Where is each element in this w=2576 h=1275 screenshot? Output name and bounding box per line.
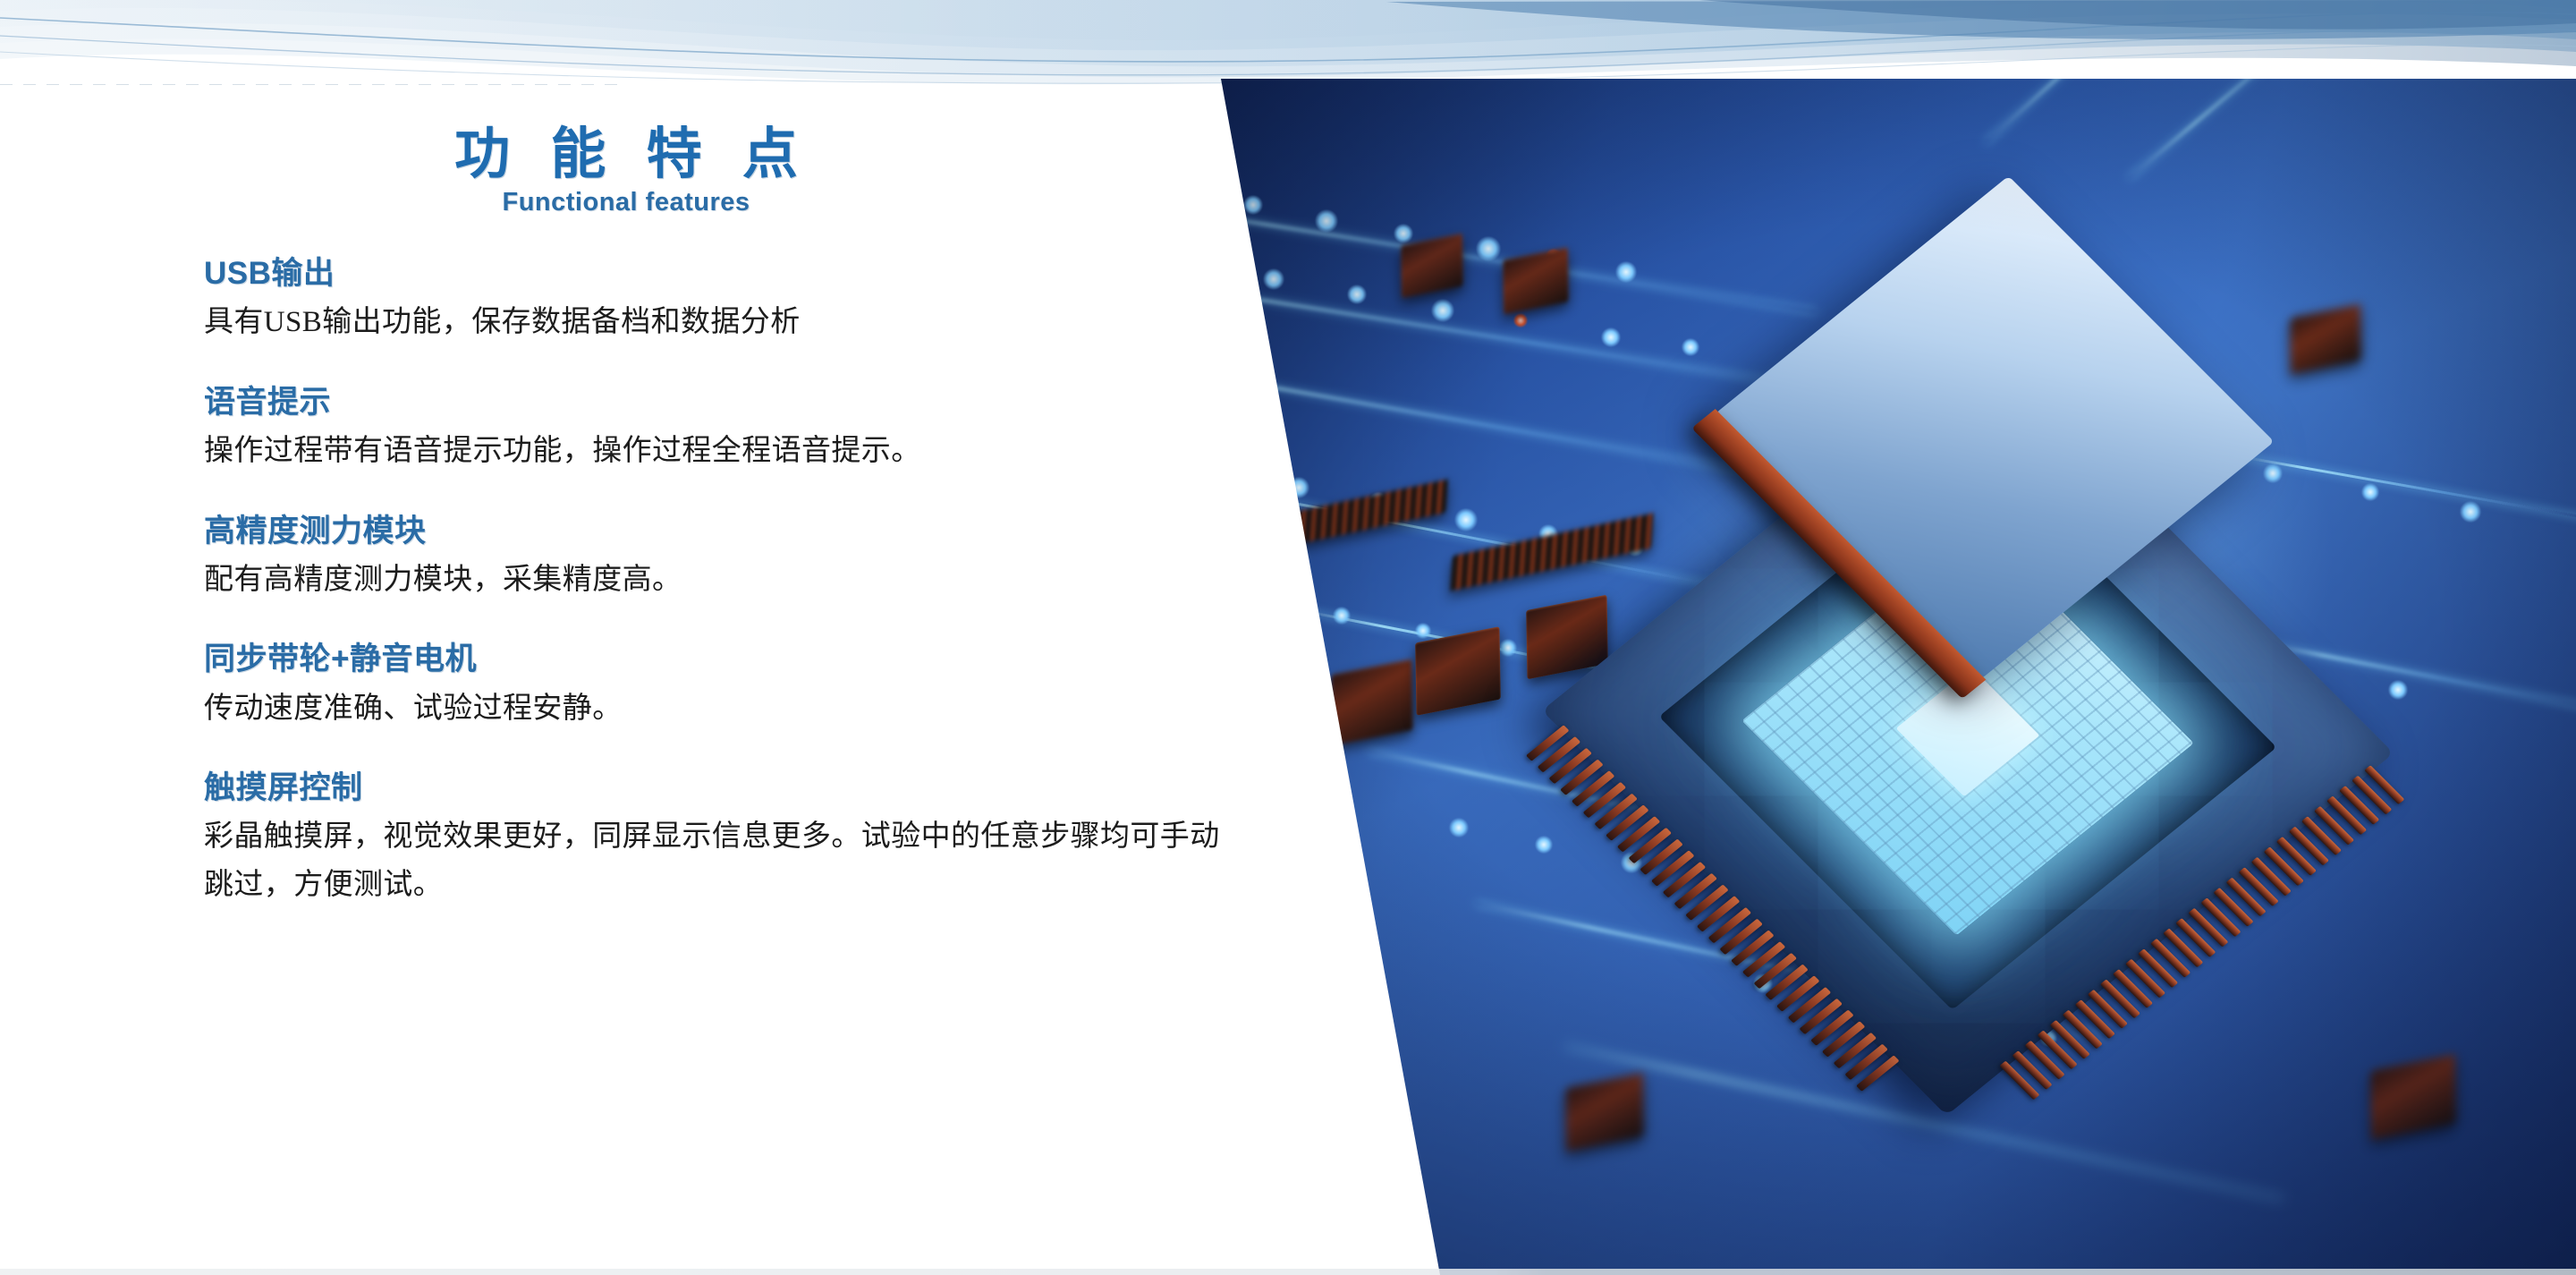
feature-title: 高精度测力模块 bbox=[204, 513, 1241, 549]
circuit-board-microchip-photo bbox=[1181, 70, 2576, 1275]
dotted-rule-decoration bbox=[0, 84, 626, 86]
bottom-edge-strip bbox=[0, 1269, 2576, 1275]
feature-item: 高精度测力模块 配有高精度测力模块，采集精度高。 bbox=[204, 513, 1241, 605]
feature-item: 同步带轮+静音电机 传动速度准确、试验过程安静。 bbox=[204, 641, 1241, 733]
feature-item: USB输出 具有USB输出功能，保存数据备档和数据分析 bbox=[204, 255, 1241, 347]
content-column: 功 能 特 点 Functional features USB输出 具有USB输… bbox=[0, 89, 1252, 1275]
feature-description: 传动速度准确、试验过程安静。 bbox=[204, 685, 1241, 733]
feature-description: 操作过程带有语音提示功能，操作过程全程语音提示。 bbox=[204, 428, 1241, 475]
wave-ribbon-decoration bbox=[0, 0, 2576, 89]
photo-background bbox=[1181, 70, 2576, 1275]
section-heading: 功 能 特 点 Functional features bbox=[0, 125, 1252, 217]
feature-item: 触摸屏控制 彩晶触摸屏，视觉效果更好，同屏显示信息更多。试验中的任意步骤均可手动… bbox=[204, 769, 1241, 909]
feature-description: 具有USB输出功能，保存数据备档和数据分析 bbox=[204, 299, 1241, 346]
slide-root: 功 能 特 点 Functional features USB输出 具有USB输… bbox=[0, 0, 2576, 1275]
wave-ribbon-icon bbox=[0, 0, 2576, 89]
page-title: 功 能 特 点 bbox=[0, 125, 1252, 183]
page-subtitle: Functional features bbox=[0, 189, 1252, 217]
photo-vignette bbox=[1181, 70, 2576, 1275]
feature-title: USB输出 bbox=[204, 255, 1241, 292]
feature-title: 触摸屏控制 bbox=[204, 769, 1241, 806]
feature-description: 彩晶触摸屏，视觉效果更好，同屏显示信息更多。试验中的任意步骤均可手动跳过，方便测… bbox=[204, 813, 1241, 909]
feature-item: 语音提示 操作过程带有语音提示功能，操作过程全程语音提示。 bbox=[204, 384, 1241, 476]
feature-title: 语音提示 bbox=[204, 384, 1241, 421]
feature-list: USB输出 具有USB输出功能，保存数据备档和数据分析 语音提示 操作过程带有语… bbox=[204, 255, 1241, 909]
feature-description: 配有高精度测力模块，采集精度高。 bbox=[204, 557, 1241, 604]
feature-title: 同步带轮+静音电机 bbox=[204, 641, 1241, 677]
smd-component bbox=[1243, 688, 1320, 769]
